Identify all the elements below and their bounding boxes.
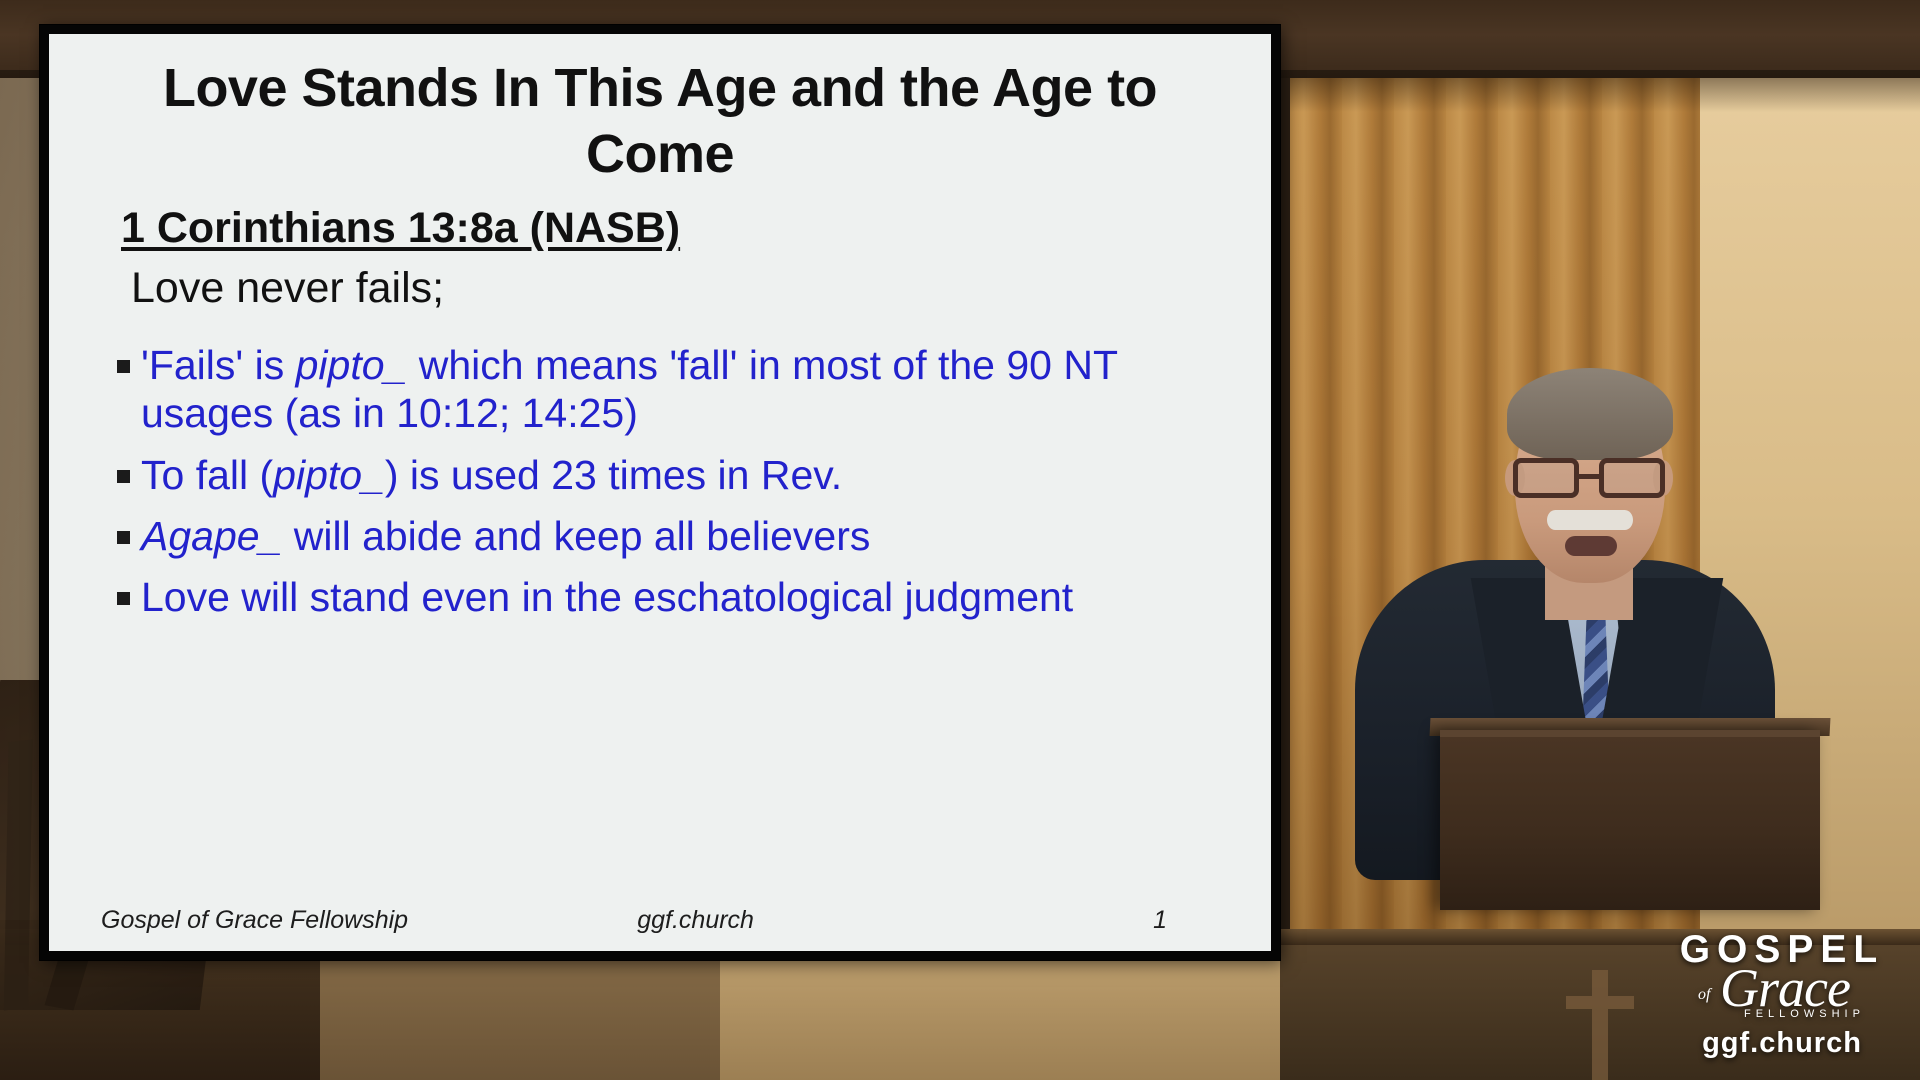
logo-of-text: of <box>1698 987 1710 1003</box>
speaker-mouth <box>1565 536 1617 556</box>
square-bullet-icon <box>117 470 130 483</box>
livestream-video-frame: Love Stands In This Age and the Age to C… <box>0 0 1920 1080</box>
bullet-text: Agape_ will abide and keep all believers <box>141 512 1237 560</box>
bullet-text: Love will stand even in the eschatologic… <box>141 573 1237 621</box>
footer-page-number: 1 <box>1153 906 1219 935</box>
logo-fellowship-text: FELLOWSHIP <box>1744 1009 1865 1020</box>
footer-website: ggf.church <box>408 906 1153 935</box>
logo-middle-row: of Grace FELLOWSHIP <box>1672 967 1892 1025</box>
presentation-slide-frame: Love Stands In This Age and the Age to C… <box>40 25 1280 960</box>
speaker-mustache <box>1547 510 1633 530</box>
cross-icon <box>1592 970 1608 1080</box>
bullet-text: 'Fails' is pipto_ which means 'fall' in … <box>141 341 1237 438</box>
logo-url-text: ggf.church <box>1672 1029 1892 1058</box>
list-item: 'Fails' is pipto_ which means 'fall' in … <box>93 341 1237 438</box>
eyeglasses-icon <box>1507 458 1677 500</box>
square-bullet-icon <box>117 531 130 544</box>
list-item: To fall (pipto_) is used 23 times in Rev… <box>93 451 1237 499</box>
square-bullet-icon <box>117 360 130 373</box>
podium <box>1440 730 1820 910</box>
list-item: Love will stand even in the eschatologic… <box>93 573 1237 621</box>
chair-leg-secondary <box>4 739 33 1010</box>
list-item: Agape_ will abide and keep all believers <box>93 512 1237 560</box>
footer-organization: Gospel of Grace Fellowship <box>101 906 408 935</box>
slide-footer: Gospel of Grace Fellowship ggf.church 1 <box>83 906 1237 951</box>
curtain-top-shadow <box>1290 72 1920 112</box>
square-bullet-icon <box>117 592 130 605</box>
logo-grace-text: Grace <box>1720 961 1850 1015</box>
scripture-text: Love never fails; <box>131 263 1237 315</box>
presentation-slide: Love Stands In This Age and the Age to C… <box>49 34 1271 951</box>
speaker-hair <box>1507 368 1673 460</box>
bullet-list: 'Fails' is pipto_ which means 'fall' in … <box>93 341 1237 635</box>
bullet-text: To fall (pipto_) is used 23 times in Rev… <box>141 451 1237 499</box>
church-logo-watermark: GOSPEL of Grace FELLOWSHIP ggf.church <box>1672 930 1892 1058</box>
slide-title: Love Stands In This Age and the Age to C… <box>83 56 1237 188</box>
scripture-reference: 1 Corinthians 13:8a (NASB) <box>121 204 680 253</box>
